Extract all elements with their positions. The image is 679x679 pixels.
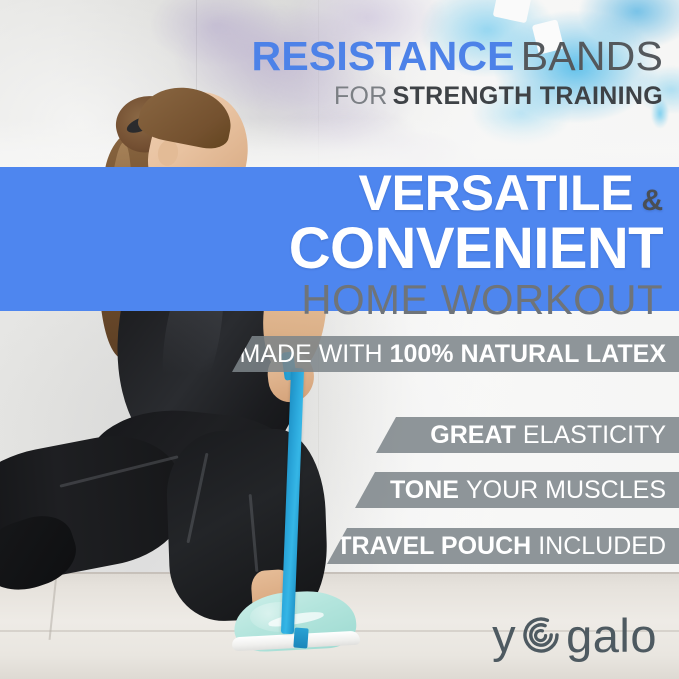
- headline-banner: [0, 167, 679, 311]
- feature-bold-text: TONE: [390, 476, 459, 505]
- feature-trail-text: ELASTICITY: [523, 421, 666, 450]
- feature-trail-text: INCLUDED: [538, 532, 666, 561]
- feature-lead-text: MADE WITH: [240, 340, 383, 369]
- header-title-secondary: BANDS: [521, 33, 663, 79]
- spiral-swirl-icon: [517, 611, 565, 659]
- feature-bar: TONE YOUR MUSCLES: [355, 472, 679, 508]
- feature-bold-text: GREAT: [430, 421, 516, 450]
- product-marketing-image: RESISTANCEBANDS FORSTRENGTH TRAINING VER…: [0, 0, 679, 679]
- header-title-primary: RESISTANCE: [252, 33, 515, 79]
- header-subtitle-line: FORSTRENGTH TRAINING: [252, 84, 663, 109]
- logo-text-after: galo: [566, 612, 657, 659]
- feature-bold-text: 100% NATURAL LATEX: [390, 340, 666, 369]
- resistance-band-under-foot: [293, 628, 308, 649]
- header-title-line: RESISTANCEBANDS: [252, 36, 663, 77]
- header-subtitle-light: FOR: [334, 82, 388, 110]
- header-subtitle-bold: STRENGTH TRAINING: [393, 82, 663, 110]
- brand-logo: y galo: [492, 611, 657, 659]
- feature-bar: GREAT ELASTICITY: [376, 417, 679, 453]
- feature-bold-text: TRAVEL POUCH: [336, 532, 531, 561]
- feature-trail-text: YOUR MUSCLES: [466, 476, 666, 505]
- feature-bar: MADE WITH 100% NATURAL LATEX: [232, 336, 679, 372]
- header-title-block: RESISTANCEBANDS FORSTRENGTH TRAINING: [252, 36, 663, 109]
- feature-bar: TRAVEL POUCH INCLUDED: [327, 528, 679, 564]
- logo-text-before: y: [492, 612, 516, 659]
